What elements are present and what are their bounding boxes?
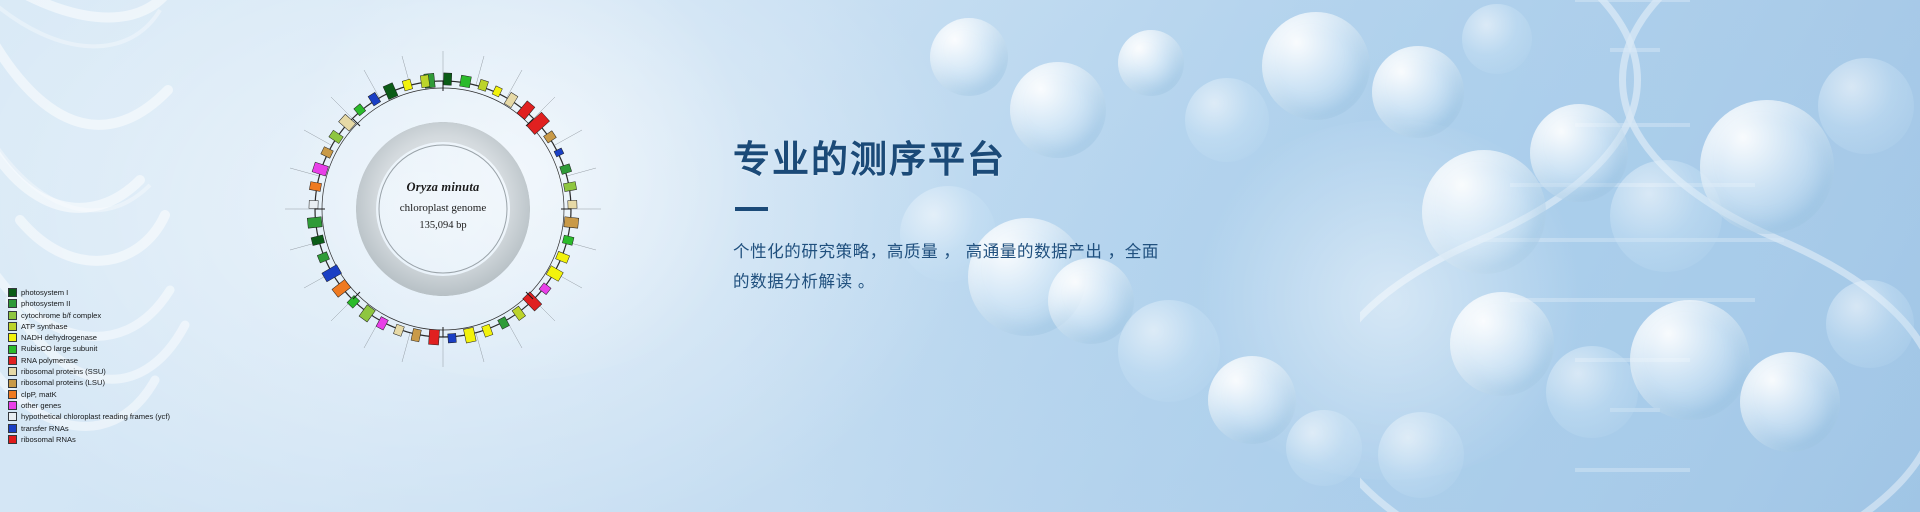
bubble (1286, 410, 1362, 486)
legend-color-swatch (8, 424, 17, 433)
legend-item: NADH dehydrogenase (8, 332, 240, 343)
legend-item: ribosomal proteins (LSU) (8, 377, 240, 388)
legend-item: RubisCO large subunit (8, 343, 240, 354)
bubble (1372, 46, 1464, 138)
bubble (1378, 412, 1464, 498)
gc-content-ring (366, 132, 520, 286)
legend-color-swatch (8, 345, 17, 354)
bubble (930, 18, 1008, 96)
legend-item-label: other genes (21, 400, 61, 411)
legend-item-label: ribosomal RNAs (21, 434, 76, 445)
legend-item-label: RNA polymerase (21, 355, 78, 366)
page-title: 专业的测序平台 (733, 138, 1353, 182)
legend-color-swatch (8, 367, 17, 376)
bubble (1450, 292, 1554, 396)
bubble (1262, 12, 1370, 120)
bubble (1208, 356, 1296, 444)
legend-color-swatch (8, 401, 17, 410)
bubble (1546, 346, 1638, 438)
bubble (1530, 104, 1628, 202)
bubble (1700, 100, 1834, 234)
sequencing-platform-banner: Oryza minuta chloroplast genome 135,094 … (0, 0, 1920, 512)
bubble (1462, 4, 1532, 74)
bubble (1740, 352, 1840, 452)
legend-item-label: ATP synthase (21, 321, 68, 332)
legend-item-label: NADH dehydrogenase (21, 332, 97, 343)
bubble (1610, 160, 1722, 272)
bubble (1818, 58, 1914, 154)
legend-item-label: cytochrome b/f complex (21, 310, 101, 321)
genome-legend: photosystem I photosystem II cytochrome … (8, 287, 240, 445)
title-divider-rule (735, 207, 768, 211)
legend-item: other genes (8, 400, 240, 411)
bubble (1118, 300, 1220, 402)
legend-item-label: ribosomal proteins (SSU) (21, 366, 106, 377)
legend-color-swatch (8, 333, 17, 342)
banner-copy-block: 专业的测序平台 个性化的研究策略，高质量 ， 高通量的数据产出 ，全面 的数据分… (733, 138, 1353, 298)
bubble (1826, 280, 1914, 368)
bubble (1630, 300, 1750, 420)
legend-color-swatch (8, 356, 17, 365)
legend-color-swatch (8, 390, 17, 399)
bubble (1118, 30, 1184, 96)
chloroplast-genome-map: Oryza minuta chloroplast genome 135,094 … (238, 4, 648, 414)
legend-color-swatch (8, 412, 17, 421)
legend-color-swatch (8, 435, 17, 444)
legend-item: photosystem II (8, 298, 240, 309)
dna-helix-backdrop-right (1360, 0, 1920, 512)
legend-item: cytochrome b/f complex (8, 310, 240, 321)
description-line-2: 的数据分析解读 。 (733, 267, 1353, 298)
legend-color-swatch (8, 322, 17, 331)
legend-color-swatch (8, 288, 17, 297)
legend-color-swatch (8, 379, 17, 388)
genome-map-svg (238, 4, 648, 414)
legend-item-label: ribosomal proteins (LSU) (21, 377, 105, 388)
legend-item: clpP, matK (8, 389, 240, 400)
bubble (1422, 150, 1546, 274)
legend-item: ribosomal RNAs (8, 434, 240, 445)
legend-item-label: transfer RNAs (21, 423, 69, 434)
legend-item: photosystem I (8, 287, 240, 298)
legend-item-label: hypothetical chloroplast reading frames … (21, 411, 170, 422)
legend-item-label: photosystem II (21, 298, 70, 309)
legend-item-label: photosystem I (21, 287, 68, 298)
legend-item: RNA polymerase (8, 355, 240, 366)
legend-item: hypothetical chloroplast reading frames … (8, 411, 240, 422)
legend-color-swatch (8, 311, 17, 320)
legend-item-label: clpP, matK (21, 389, 57, 400)
legend-item-label: RubisCO large subunit (21, 343, 97, 354)
legend-item: transfer RNAs (8, 423, 240, 434)
legend-item: ATP synthase (8, 321, 240, 332)
description-line-1: 个性化的研究策略，高质量 ， 高通量的数据产出 ，全面 (733, 237, 1353, 268)
legend-color-swatch (8, 299, 17, 308)
legend-item: ribosomal proteins (SSU) (8, 366, 240, 377)
banner-description: 个性化的研究策略，高质量 ， 高通量的数据产出 ，全面 的数据分析解读 。 (733, 237, 1353, 298)
